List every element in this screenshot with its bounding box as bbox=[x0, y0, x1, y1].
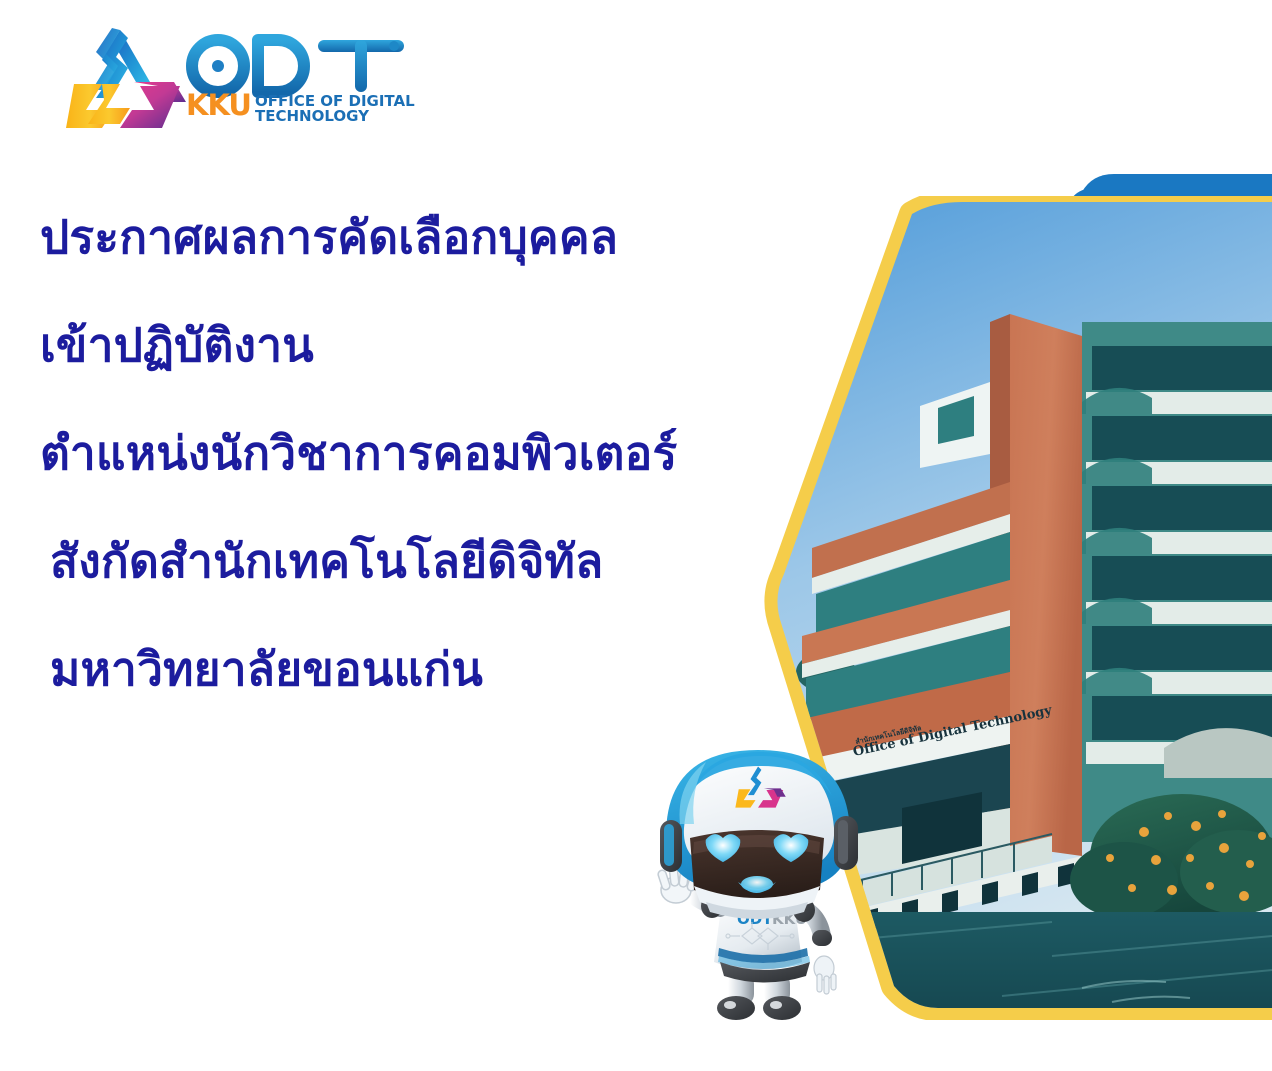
logo-sub-line2: TECHNOLOGY bbox=[255, 109, 415, 124]
headline-line-1: ประกาศผลการคัดเลือกบุคคล bbox=[40, 214, 800, 260]
odt-kku-robot-mascot: ODT KKU bbox=[624, 724, 880, 1024]
logo-kku-text: KKU bbox=[186, 92, 251, 119]
odt-triangle-logo bbox=[58, 24, 186, 136]
headline-line-5: มหาวิทยาลัยขอนแก่น bbox=[50, 646, 800, 692]
headline-line-4: สังกัดสำนักเทคโนโลยีดิจิทัล bbox=[50, 538, 800, 584]
headline-line-3: ตำแหน่งนักวิชาการคอมพิวเตอร์ bbox=[40, 430, 800, 476]
headline-line-2: เข้าปฏิบัติงาน bbox=[40, 322, 800, 368]
mascot-visor bbox=[690, 830, 824, 900]
odt-wordmark-block: KKU OFFICE OF DIGITAL TECHNOLOGY bbox=[186, 30, 418, 140]
poster-canvas: KKU OFFICE OF DIGITAL TECHNOLOGY ประกาศผ… bbox=[0, 0, 1272, 1071]
odt-kku-logo: KKU OFFICE OF DIGITAL TECHNOLOGY bbox=[58, 24, 418, 142]
announcement-headline: ประกาศผลการคัดเลือกบุคคล เข้าปฏิบัติงาน … bbox=[40, 214, 800, 692]
